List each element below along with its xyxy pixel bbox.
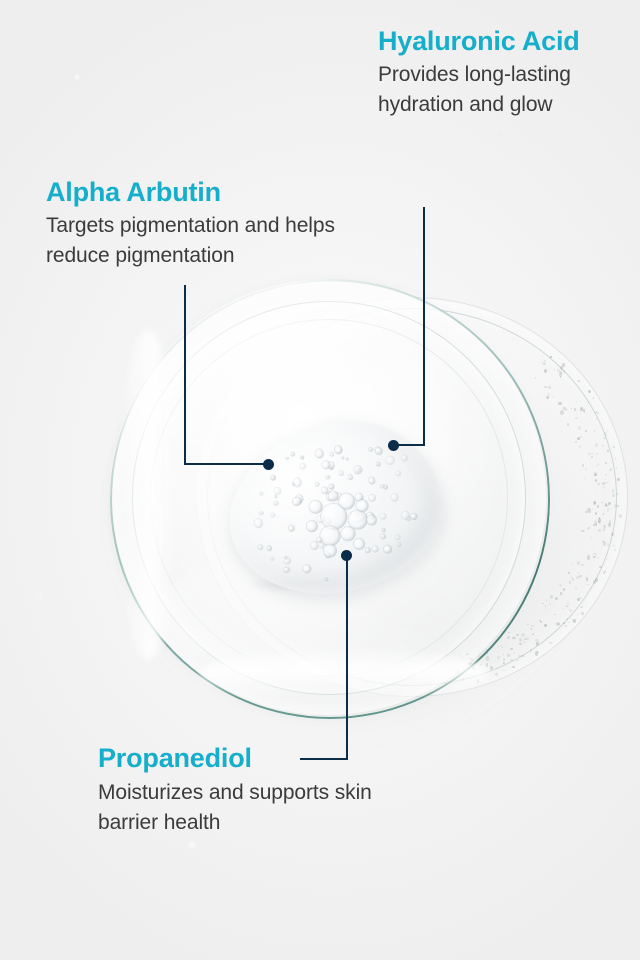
rim-speckle <box>602 483 604 485</box>
rim-speckle <box>613 446 615 448</box>
callout-hyaluronic-acid: Hyaluronic Acid Provides long-lasting hy… <box>378 24 608 120</box>
callout-alpha-arbutin: Alpha Arbutin Targets pigmentation and h… <box>46 175 390 271</box>
gel-bubble <box>314 448 324 458</box>
rim-speckle <box>614 546 616 547</box>
gel-bubble <box>347 474 353 480</box>
rim-speckle <box>606 559 607 561</box>
rim-speckle <box>603 528 605 531</box>
rim-speckle <box>569 581 572 584</box>
rim-speckle <box>603 572 604 574</box>
rim-speckle <box>603 437 606 439</box>
rim-speckle <box>544 360 545 362</box>
rim-speckle <box>587 584 588 585</box>
rim-speckle <box>599 524 601 526</box>
rim-speckle <box>563 594 565 595</box>
callout-title-alpha-arbutin: Alpha Arbutin <box>46 175 390 209</box>
gel-bubble <box>376 462 381 467</box>
rim-speckle <box>589 527 590 529</box>
rim-speckle <box>531 628 533 630</box>
gel-bubble <box>368 493 376 501</box>
rim-speckle <box>584 412 585 413</box>
rim-speckle <box>575 417 577 419</box>
rim-speckle <box>497 656 499 659</box>
rim-speckle <box>503 662 506 664</box>
rim-speckle <box>581 606 583 608</box>
rim-speckle <box>503 654 504 655</box>
rim-speckle <box>581 612 583 615</box>
rim-speckle <box>537 651 539 653</box>
callout-description-propanediol: Moisturizes and supports skin barrier he… <box>98 778 428 838</box>
gel-bubble <box>270 557 274 561</box>
leader-line-propanediol-vertical <box>346 556 348 760</box>
rim-speckle <box>568 622 569 623</box>
rim-speckle <box>563 622 564 624</box>
rim-speckle <box>577 561 580 565</box>
rim-speckle <box>577 598 580 602</box>
rim-speckle <box>524 638 526 640</box>
rim-speckle <box>595 512 597 515</box>
rim-speckle <box>595 443 598 447</box>
rim-speckle <box>593 556 596 557</box>
rim-speckle <box>572 619 575 622</box>
gel-bubble <box>410 513 417 520</box>
rim-speckle <box>549 642 552 645</box>
rim-speckle <box>602 541 604 543</box>
rim-speckle <box>588 402 589 403</box>
rim-speckle <box>567 423 569 426</box>
rim-speckle <box>606 482 608 484</box>
rim-speckle <box>554 614 557 616</box>
callout-title-hyaluronic-acid: Hyaluronic Acid <box>378 24 608 58</box>
gel-bubble <box>390 493 399 502</box>
rim-speckle <box>553 396 554 397</box>
gel-bubble <box>271 513 275 517</box>
leader-dot-hyaluronic <box>388 440 399 451</box>
rim-speckle <box>593 553 594 554</box>
rim-speckle <box>560 592 562 594</box>
gel-bubble <box>290 452 294 456</box>
rim-speckle <box>597 505 599 508</box>
gel-bubble <box>326 475 330 479</box>
leader-line-alpha-horizontal <box>184 463 269 465</box>
rim-speckle <box>519 638 522 642</box>
gel-bubble <box>380 533 386 539</box>
rim-speckle <box>535 377 537 379</box>
rim-speckle <box>513 652 515 653</box>
rim-speckle <box>594 474 595 476</box>
rim-speckle <box>507 636 509 639</box>
rim-speckle <box>560 366 563 370</box>
rim-speckle <box>549 603 551 606</box>
rim-speckle <box>603 486 605 488</box>
gel-bubble-large <box>305 519 318 532</box>
callout-description-hyaluronic-acid: Provides long-lasting hydration and glow <box>378 60 608 120</box>
rim-speckle <box>616 467 617 469</box>
rim-speckle <box>615 458 616 459</box>
rim-speckle <box>486 663 488 667</box>
gel-bubble <box>334 445 343 454</box>
rim-speckle <box>516 634 519 637</box>
gel-bubble <box>375 447 383 455</box>
rim-speckle <box>532 633 533 635</box>
rim-speckle <box>510 659 513 661</box>
gel-bubble <box>368 477 375 484</box>
rim-speckle <box>542 362 545 365</box>
rim-speckle <box>559 358 560 359</box>
leader-dot-alpha <box>263 459 274 470</box>
rim-speckle <box>507 654 510 657</box>
leader-line-alpha-vertical <box>184 285 186 465</box>
rim-speckle <box>578 426 581 430</box>
rim-speckle <box>595 578 598 581</box>
rim-speckle <box>546 600 547 601</box>
rim-speckle <box>593 397 595 399</box>
rim-speckle <box>580 436 582 439</box>
rim-speckle <box>530 649 532 652</box>
rim-speckle <box>514 630 515 631</box>
gel-bubble <box>267 545 272 550</box>
rim-speckle <box>587 508 590 513</box>
rim-speckle <box>508 632 510 633</box>
gel-bubble <box>292 477 302 487</box>
rim-speckle <box>554 369 555 370</box>
rim-speckle <box>598 529 600 532</box>
rim-speckle <box>612 489 614 493</box>
rim-speckle <box>531 625 534 627</box>
rim-speckle <box>581 530 584 533</box>
rim-speckle <box>562 608 565 609</box>
rim-gloss-left <box>118 330 178 660</box>
rim-speckle <box>586 577 588 581</box>
rim-speckle <box>598 464 599 465</box>
gel-bubble <box>329 484 335 490</box>
rim-speckle <box>614 549 616 551</box>
gel-bubble <box>300 455 304 459</box>
rim-speckle <box>594 553 597 555</box>
rim-speckle <box>555 597 558 601</box>
rim-speckle <box>591 456 593 458</box>
rim-speckle <box>596 465 597 467</box>
rim-speckle <box>563 370 565 373</box>
gel-bubble <box>385 456 395 466</box>
rim-speckle <box>503 670 505 671</box>
gel-bubble <box>382 529 385 532</box>
leader-line-hyaluronic-vertical <box>423 207 425 446</box>
rim-speckle <box>578 380 580 382</box>
rim-speckle <box>572 578 575 581</box>
rim-speckle <box>521 633 524 636</box>
rim-speckle <box>609 520 612 523</box>
rim-speckle <box>545 610 547 612</box>
rim-speckle <box>498 646 500 647</box>
gel-bubble <box>372 546 379 553</box>
gel-bubble <box>379 513 386 520</box>
rim-speckle <box>610 468 612 471</box>
rim-speckle <box>604 432 607 437</box>
gel-bubble <box>368 447 373 452</box>
rim-speckle <box>605 474 607 476</box>
rim-speckle <box>550 595 553 599</box>
rim-speckle <box>576 576 579 580</box>
rim-speckle <box>567 618 568 620</box>
rim-speckle <box>546 396 549 400</box>
gel-bubble <box>383 544 393 554</box>
rim-speckle <box>607 543 609 546</box>
gel-bubble <box>330 452 335 457</box>
rim-speckle <box>550 384 551 385</box>
rim-speckle <box>619 514 622 518</box>
rim-speckle <box>594 501 596 504</box>
rim-speckle <box>607 508 610 511</box>
rim-speckle <box>510 648 512 651</box>
rim-speckle <box>544 386 546 389</box>
rim-speckle <box>606 568 607 569</box>
rim-gloss-bottom <box>200 648 490 700</box>
rim-speckle <box>587 555 590 559</box>
rim-speckle <box>563 588 565 591</box>
gel-bubble <box>260 492 263 495</box>
rim-speckle <box>603 513 605 516</box>
rim-speckle <box>512 637 515 639</box>
rim-speckle <box>596 418 597 420</box>
rim-speckle <box>580 407 583 411</box>
rim-speckle <box>585 430 587 432</box>
rim-speckle <box>550 356 552 358</box>
rim-speckle <box>503 658 505 662</box>
rim-speckle <box>540 621 542 623</box>
gel-bubble <box>274 487 281 494</box>
rim-speckle <box>578 573 579 574</box>
gel-bubble-large <box>366 514 378 526</box>
rim-speckle <box>545 605 547 608</box>
rim-speckle <box>594 430 596 432</box>
rim-speckle <box>571 408 572 409</box>
gel-bubble <box>253 518 263 528</box>
rim-speckle <box>611 508 612 510</box>
rim-speckle <box>574 408 576 411</box>
gel-bubble <box>288 525 295 532</box>
rim-speckle <box>571 387 572 388</box>
gel-bubble <box>273 500 279 506</box>
rim-speckle <box>596 453 598 455</box>
rim-speckle <box>544 369 547 373</box>
rim-speckle <box>577 614 579 616</box>
rim-speckle <box>588 390 591 393</box>
rim-speckle <box>560 372 562 375</box>
rim-speckle <box>584 478 585 479</box>
rim-speckle <box>602 445 604 447</box>
rim-speckle <box>579 445 581 448</box>
rim-speckle <box>617 505 619 507</box>
rim-speckle <box>522 655 524 657</box>
gel-bubble <box>258 544 264 550</box>
rim-speckle <box>569 609 572 613</box>
rim-speckle <box>527 624 529 625</box>
gel-bubble <box>292 496 302 506</box>
rim-speckle <box>519 655 520 657</box>
rim-speckle <box>605 462 607 464</box>
rim-speckle <box>608 470 610 471</box>
callout-propanediol: Propanediol Moisturizes and supports ski… <box>98 740 428 838</box>
rim-speckle <box>495 673 498 676</box>
rim-speckle <box>516 660 519 661</box>
rim-speckle <box>566 606 568 608</box>
gel-bubble <box>365 547 370 552</box>
rim-speckle <box>565 625 567 627</box>
gel-bubble <box>346 458 349 461</box>
infographic-canvas: Hyaluronic Acid Provides long-lasting hy… <box>0 0 640 960</box>
rim-speckle <box>588 453 590 455</box>
rim-speckle <box>567 602 570 605</box>
gel-bubble <box>325 578 328 581</box>
gel-bubble <box>395 470 402 477</box>
rim-speckle <box>512 666 515 668</box>
rim-speckle <box>598 557 599 558</box>
rim-speckle <box>568 572 570 574</box>
rim-speckle <box>581 564 584 566</box>
rim-speckle <box>612 494 615 497</box>
rim-speckle <box>575 588 577 589</box>
gel-bubble <box>285 457 288 460</box>
gel-bubble <box>299 462 306 469</box>
rim-speckle <box>576 402 577 403</box>
gel-bubble <box>394 534 401 541</box>
rim-speckle <box>575 442 577 443</box>
gel-bubble <box>401 454 408 461</box>
rim-speckle <box>597 412 600 414</box>
rim-speckle <box>580 597 581 598</box>
gel-bubble <box>284 567 290 573</box>
rim-speckle <box>595 479 597 481</box>
rim-speckle <box>542 603 544 604</box>
rim-speckle <box>486 656 489 661</box>
rim-speckle <box>604 479 606 480</box>
callout-description-alpha-arbutin: Targets pigmentation and helps reduce pi… <box>46 211 390 271</box>
rim-speckle <box>591 453 593 454</box>
rim-speckle <box>560 376 561 377</box>
gel-bubble <box>270 475 276 481</box>
rim-speckle <box>607 450 609 453</box>
rim-speckle <box>548 386 551 389</box>
gel-bubble <box>397 542 402 547</box>
rim-speckle <box>519 643 522 645</box>
rim-speckle <box>608 502 611 506</box>
rim-speckle <box>558 402 561 405</box>
rim-speckle <box>599 566 602 568</box>
rim-speckle <box>617 493 618 495</box>
gel-bubble <box>341 456 344 459</box>
rim-speckle <box>582 464 584 466</box>
gel-bubble <box>274 495 277 498</box>
rim-speckle <box>560 410 563 415</box>
rim-speckle <box>558 623 560 624</box>
leader-dot-propanediol <box>341 550 352 561</box>
rim-speckle <box>523 641 525 643</box>
gel-bubble <box>339 471 344 476</box>
rim-speckle <box>597 483 600 486</box>
gel-bubble <box>314 482 319 487</box>
rim-speckle <box>592 508 593 509</box>
gel-bubble-large <box>352 537 365 550</box>
rim-speckle <box>607 430 608 432</box>
rim-speckle <box>579 575 581 577</box>
gel-bubble <box>302 564 312 574</box>
rim-speckle <box>603 541 606 545</box>
rim-speckle <box>577 437 580 439</box>
rim-speckle <box>571 564 572 565</box>
callout-title-propanediol: Propanediol <box>98 740 428 776</box>
rim-speckle <box>585 468 587 470</box>
rim-speckle <box>617 478 619 482</box>
rim-speckle <box>536 642 539 645</box>
rim-speckle <box>601 502 602 504</box>
rim-speckle <box>594 520 597 524</box>
rim-speckle <box>590 537 591 538</box>
gel-bubble <box>259 511 263 515</box>
rim-speckle <box>501 646 502 648</box>
rim-speckle <box>490 666 493 670</box>
